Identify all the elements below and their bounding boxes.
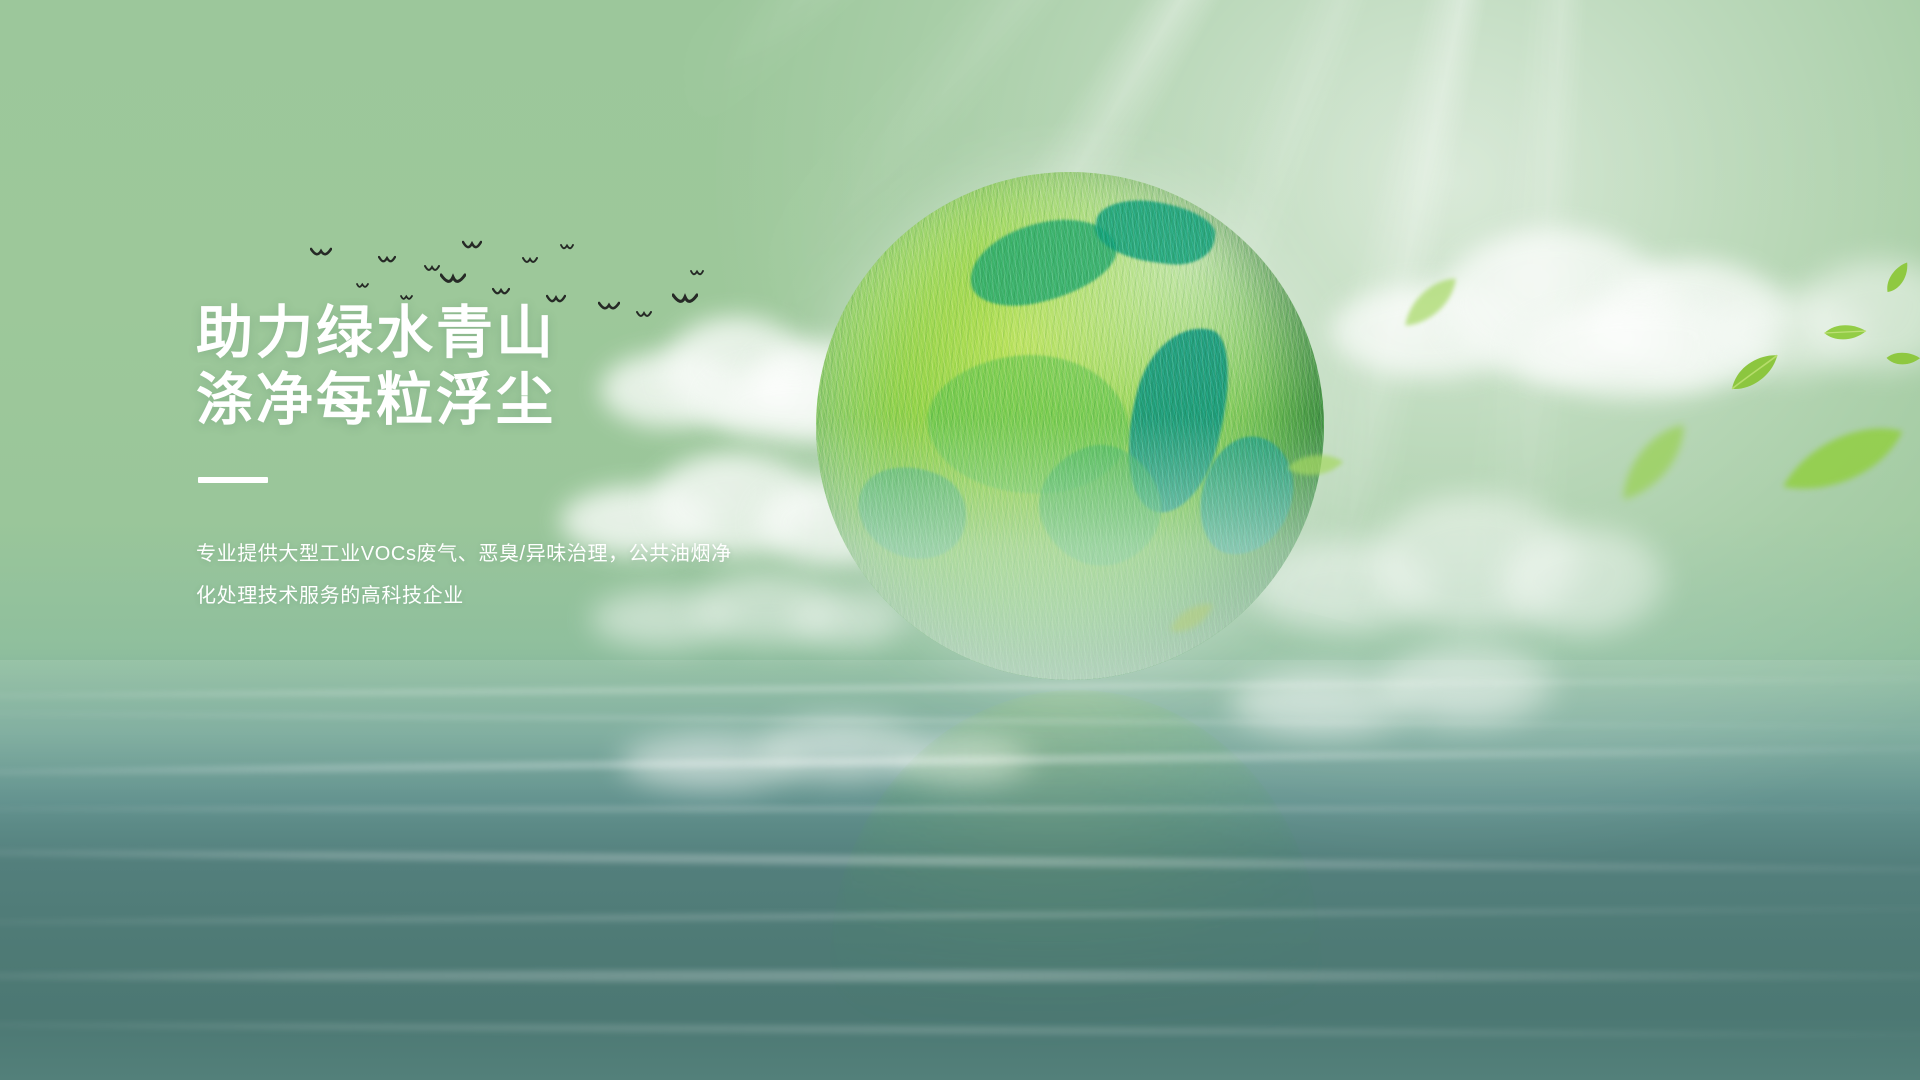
bird-icon (378, 252, 396, 270)
headline-line-1: 助力绿水青山 (196, 300, 816, 367)
leaf-icon (1878, 259, 1918, 297)
cloud-right-upper (1330, 210, 1790, 410)
bird-icon (462, 238, 482, 256)
hero-description: 专业提供大型工业VOCs废气、恶臭/异味治理，公共油烟净 化处理技术服务的高科技… (196, 533, 736, 617)
leaf-icon (1392, 272, 1470, 333)
leaf-icon (1774, 421, 1911, 500)
bird-icon (440, 272, 466, 291)
leaf-icon (1601, 417, 1706, 509)
headline-divider (198, 477, 268, 483)
bird-icon (356, 276, 369, 294)
description-line-1: 专业提供大型工业VOCs废气、恶臭/异味治理，公共油烟净 (196, 533, 736, 575)
bird-icon (522, 252, 538, 270)
bird-icon (690, 264, 704, 282)
cloud-far-right (1700, 250, 1920, 400)
leaf-icon (1822, 317, 1868, 349)
bird-icon (310, 246, 332, 264)
headline-line-2: 涤净每粒浮尘 (196, 367, 816, 434)
description-line-2: 化处理技术服务的高科技企业 (196, 575, 736, 617)
hero-banner: 助力绿水青山 涤净每粒浮尘 专业提供大型工业VOCs废气、恶臭/异味治理，公共油… (0, 0, 1920, 1080)
earth-globe (816, 172, 1324, 680)
hero-copy: 助力绿水青山 涤净每粒浮尘 专业提供大型工业VOCs废气、恶臭/异味治理，公共油… (196, 300, 816, 617)
leaf-icon (1723, 349, 1788, 397)
leaf-icon (1884, 345, 1920, 373)
bird-icon (424, 260, 440, 278)
bird-icon (560, 238, 574, 256)
page-title: 助力绿水青山 涤净每粒浮尘 (196, 300, 816, 433)
globe-water-reflection (830, 690, 1322, 1070)
